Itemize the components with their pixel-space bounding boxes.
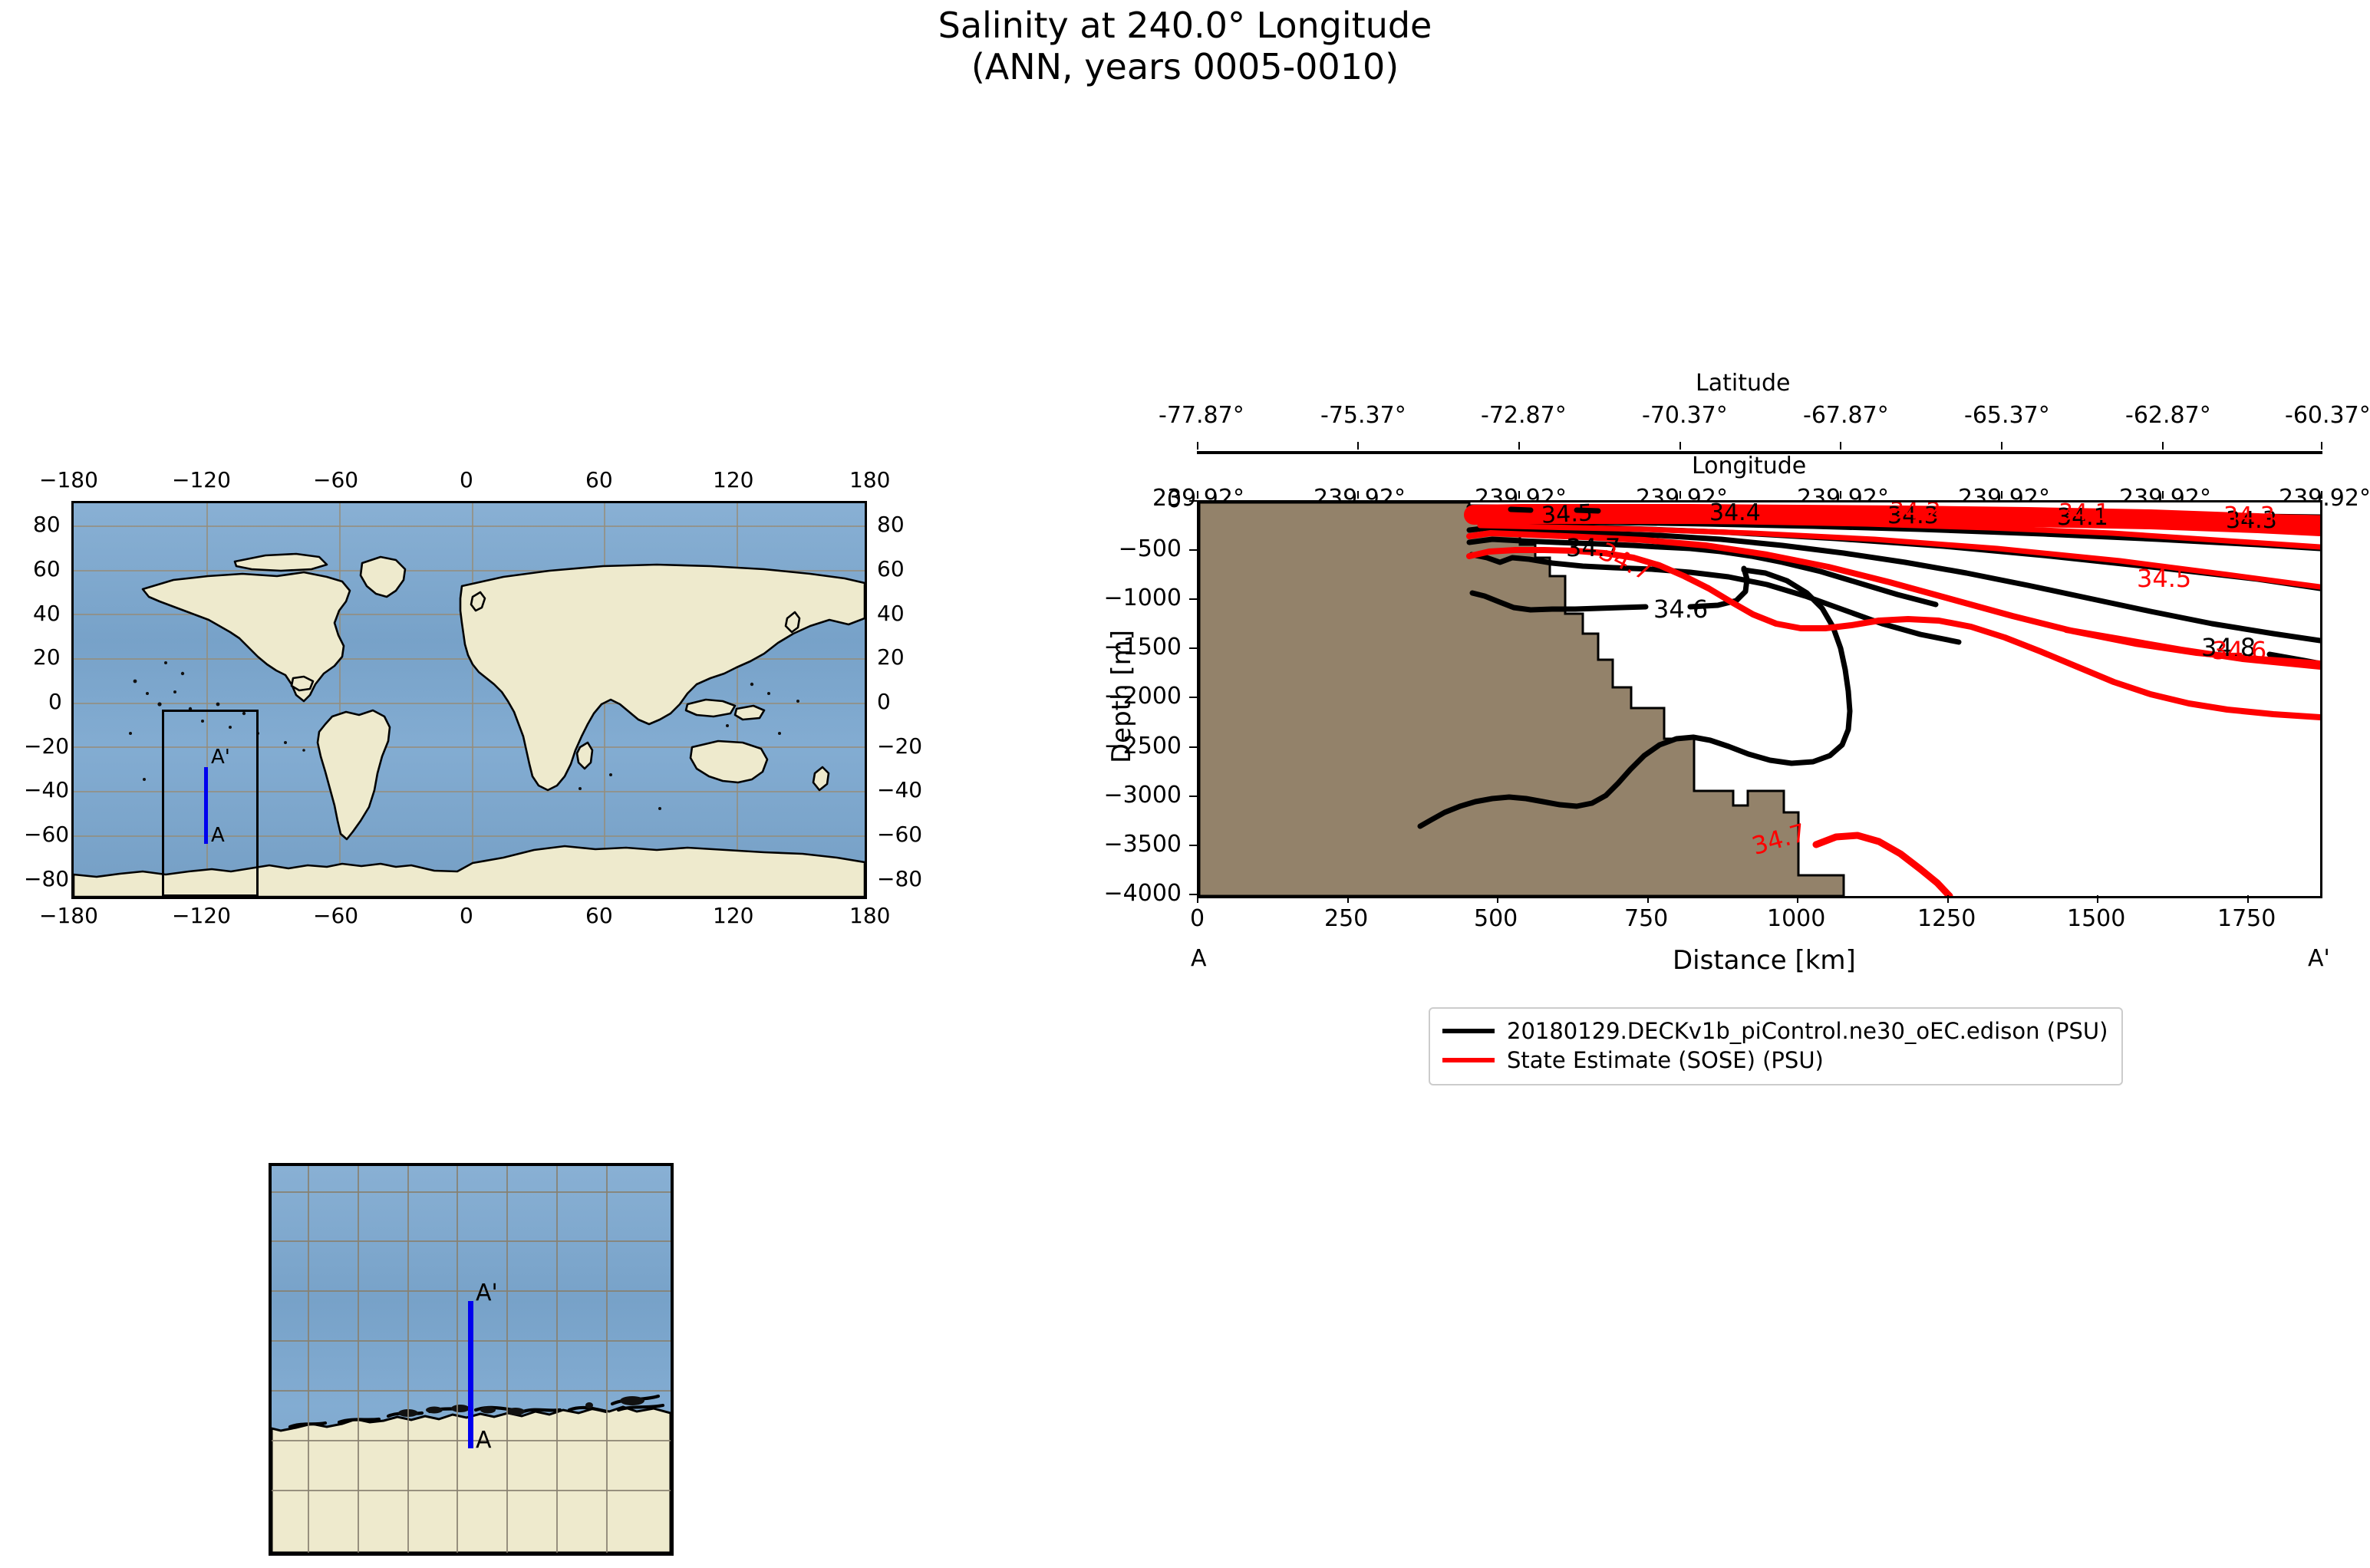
zoom-transect-label-a: A: [476, 1427, 492, 1454]
section-endpoint-label-a: A: [1191, 945, 1207, 972]
distance-tick-mark-6: [2097, 895, 2098, 903]
world-map-lat-tick-right-1: 60: [877, 556, 905, 581]
latitude-tick-mark-4: [1840, 442, 1841, 450]
red-contour-label-34-5: 34.5: [2137, 564, 2191, 593]
red-contour-label-34-2: 34.2: [1890, 500, 1941, 525]
latitude-tick-3: -70.37°: [1642, 402, 1728, 429]
world-map-lat-tick-right-2: 40: [877, 601, 905, 626]
black-contour-label-34-4: 34.4: [1709, 500, 1761, 526]
world-map-lon-tick-top-6: 180: [849, 467, 890, 492]
distance-tick-mark-0: [1197, 895, 1198, 903]
depth-tick-mark-1: [1189, 549, 1197, 551]
distance-tick-5: 1250: [1917, 905, 1976, 932]
world-map-lat-tick-left-0: 80: [33, 512, 61, 537]
depth-tick-mark-8: [1189, 894, 1197, 895]
world-map-lon-tick-bottom-5: 120: [713, 903, 753, 928]
depth-tick-mark-3: [1189, 647, 1197, 649]
red-contour-label-34-6: 34.6: [2212, 636, 2266, 665]
latitude-tick-1: -75.37°: [1320, 402, 1406, 429]
latitude-axis-title: Latitude: [1696, 370, 1790, 397]
world-map-lat-tick-left-4: 0: [48, 689, 62, 714]
depth-tick-mark-4: [1189, 697, 1197, 698]
zoom-transect-label-aprime: A': [476, 1280, 498, 1306]
longitude-tick-mark-3: [1679, 491, 1681, 499]
distance-tick-mark-5: [1947, 895, 1949, 903]
latitude-tick-7: -60.37°: [2285, 402, 2370, 429]
world-map-lon-tick-top-5: 120: [713, 467, 753, 492]
figure-title-line1: Salinity at 240.0° Longitude: [938, 5, 1432, 46]
legend-swatch-sose: [1442, 1058, 1495, 1062]
latitude-tick-mark-7: [2321, 442, 2322, 450]
longitude-tick-mark-0: [1197, 491, 1198, 499]
distance-tick-4: 1000: [1767, 905, 1825, 932]
distance-tick-mark-3: [1647, 895, 1649, 903]
transect-endpoint-label-a: A: [211, 824, 225, 847]
depth-tick-mark-0: [1189, 500, 1197, 502]
depth-tick-5: −2500: [1091, 733, 1182, 759]
world-map-lon-tick-top-4: 60: [585, 467, 613, 492]
latitude-tick-2: -72.87°: [1481, 402, 1567, 429]
depth-tick-0: 0: [1105, 486, 1182, 513]
world-map-lat-tick-right-8: −80: [877, 866, 922, 891]
legend-label-model: 20180129.DECKv1b_piControl.ne30_oEC.edis…: [1507, 1018, 2108, 1044]
world-map-lat-tick-right-0: 80: [877, 512, 905, 537]
transect-line-zoom: [468, 1301, 473, 1448]
zoom-map-axes: A' A: [269, 1163, 674, 1556]
distance-tick-mark-1: [1347, 895, 1349, 903]
world-map-lat-tick-left-6: −40: [24, 777, 69, 802]
bathymetry-fill: [1199, 502, 1844, 896]
longitude-tick-mark-6: [2162, 491, 2164, 499]
figure-title-line2: (ANN, years 0005-0010): [971, 46, 1399, 87]
world-map-lat-tick-right-7: −60: [877, 822, 922, 847]
longitude-tick-mark-2: [1518, 491, 1520, 499]
distance-tick-7: 1750: [2217, 905, 2276, 932]
world-map-lat-tick-right-6: −40: [877, 777, 922, 802]
distance-tick-0: 0: [1190, 905, 1205, 932]
series-legend[interactable]: 20180129.DECKv1b_piControl.ne30_oEC.edis…: [1429, 1007, 2123, 1085]
longitude-tick-mark-4: [1840, 491, 1841, 499]
distance-tick-2: 500: [1474, 905, 1518, 932]
longitude-axis-title: Longitude: [1692, 453, 1806, 479]
red-contour-label-34-3: 34.3: [2223, 502, 2275, 529]
distance-tick-1: 250: [1324, 905, 1368, 932]
salinity-cross-section-plot[interactable]: Latitude -77.87° -75.37° -72.87° -70.37°…: [1197, 500, 2322, 898]
depth-tick-mark-5: [1189, 746, 1197, 748]
latitude-tick-mark-1: [1357, 442, 1359, 450]
legend-item-sose[interactable]: State Estimate (SOSE) (PSU): [1442, 1046, 2108, 1075]
world-map-lat-tick-left-8: −80: [24, 866, 69, 891]
distance-tick-6: 1500: [2067, 905, 2125, 932]
world-map-lon-tick-top-0: −180: [39, 467, 98, 492]
transect-line-overview: [204, 767, 208, 844]
depth-tick-8: −4000: [1091, 880, 1182, 907]
world-map-lat-tick-left-2: 40: [33, 601, 61, 626]
black-contour-label-34-6: 34.6: [1653, 595, 1708, 624]
world-map-lat-tick-left-5: −20: [24, 733, 69, 759]
world-map-lat-tick-left-1: 60: [33, 556, 61, 581]
red-contour-label-34-1: 34.1: [2059, 500, 2110, 526]
transect-endpoint-label-aprime: A': [211, 746, 230, 769]
latitude-tick-mark-6: [2162, 442, 2164, 450]
latitude-tick-mark-3: [1679, 442, 1681, 450]
longitude-tick-mark-7: [2321, 491, 2322, 499]
world-map-lat-tick-right-5: −20: [877, 733, 922, 759]
world-map-lon-tick-bottom-4: 60: [585, 903, 613, 928]
depth-tick-7: −3500: [1091, 831, 1182, 858]
latitude-tick-mark-5: [2001, 442, 2002, 450]
distance-tick-mark-7: [2247, 895, 2249, 903]
longitude-tick-mark-1: [1357, 491, 1359, 499]
world-map-lat-tick-right-3: 20: [877, 644, 905, 670]
global-overview-map[interactable]: A' A −180 −120 −60 0 60 120 180 −180 −12…: [71, 501, 867, 899]
latitude-tick-mark-0: [1197, 442, 1198, 450]
distance-tick-mark-2: [1497, 895, 1498, 903]
world-map-lon-tick-bottom-1: −120: [172, 903, 231, 928]
depth-tick-1: −500: [1105, 535, 1182, 562]
legend-swatch-model: [1442, 1029, 1495, 1033]
world-map-lon-tick-bottom-2: −60: [313, 903, 358, 928]
figure-title: Salinity at 240.0° Longitude(ANN, years …: [0, 5, 2370, 88]
legend-item-model[interactable]: 20180129.DECKv1b_piControl.ne30_oEC.edis…: [1442, 1016, 2108, 1046]
cross-section-axes: 34.5 34.4 34.3 34.1 34.3 34.7 34.6 34.8 …: [1197, 500, 2322, 898]
transect-zoom-map[interactable]: A' A: [269, 1163, 674, 1556]
world-map-lon-tick-bottom-0: −180: [39, 903, 98, 928]
depth-tick-4: −2000: [1091, 683, 1182, 710]
world-map-lon-tick-top-3: 0: [460, 467, 473, 492]
world-map-lon-tick-top-2: −60: [313, 467, 358, 492]
latitude-tick-0: -77.87°: [1159, 402, 1244, 429]
depth-tick-2: −1000: [1091, 585, 1182, 611]
world-map-lat-tick-left-7: −60: [24, 822, 69, 847]
distance-tick-mark-4: [1797, 895, 1798, 903]
depth-tick-mark-2: [1189, 598, 1197, 600]
inset-region-box: [162, 710, 259, 897]
legend-label-sose: State Estimate (SOSE) (PSU): [1507, 1047, 1824, 1073]
latitude-tick-4: -67.87°: [1803, 402, 1889, 429]
world-map-lat-tick-left-3: 20: [33, 644, 61, 670]
distance-axis-title: Distance [km]: [1673, 945, 1856, 976]
latitude-tick-mark-2: [1518, 442, 1520, 450]
depth-tick-6: −3000: [1091, 782, 1182, 809]
longitude-tick-mark-5: [2001, 491, 2002, 499]
section-endpoint-label-aprime: A': [2308, 945, 2330, 972]
latitude-tick-6: -62.87°: [2125, 402, 2211, 429]
world-map-lat-tick-right-4: 0: [877, 689, 891, 714]
depth-tick-mark-7: [1189, 845, 1197, 846]
world-map-axes: A' A: [71, 501, 867, 899]
world-map-lon-tick-top-1: −120: [172, 467, 231, 492]
world-map-lon-tick-bottom-3: 0: [460, 903, 473, 928]
latitude-tick-5: -65.37°: [1964, 402, 2050, 429]
depth-tick-mark-6: [1189, 796, 1197, 797]
black-contour-label-34-5: 34.5: [1541, 500, 1594, 529]
depth-tick-3: −1500: [1091, 634, 1182, 660]
world-map-lon-tick-bottom-6: 180: [849, 903, 890, 928]
distance-tick-3: 750: [1624, 905, 1668, 932]
